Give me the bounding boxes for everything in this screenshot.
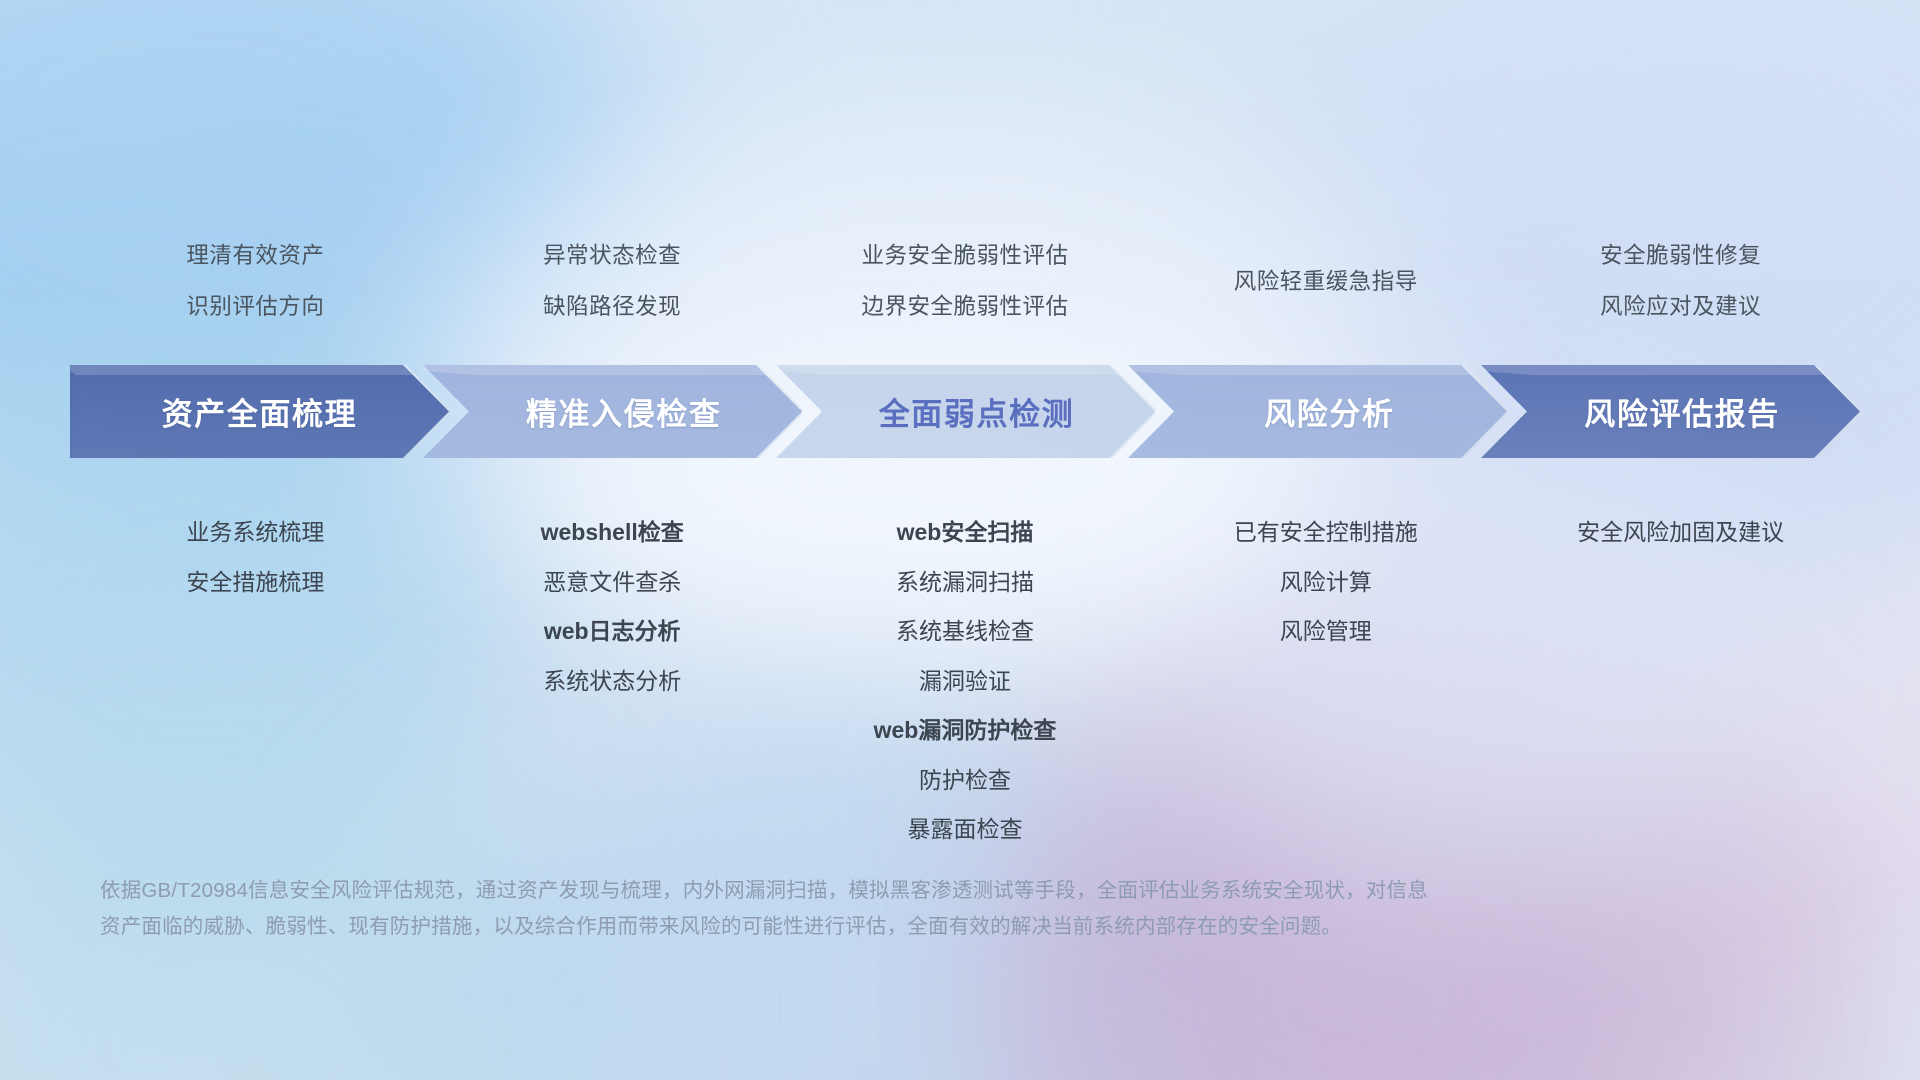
chevron-label-assessment-report: 风险评估报告 [1584,389,1780,434]
chevron-stage-risk-analysis[interactable]: 风险分析 [1128,365,1507,458]
top-point-intrusion-check: 异常状态检查 [412,245,812,268]
chevron-stage-assessment-report[interactable]: 风险评估报告 [1481,365,1860,458]
chevron-stage-intrusion-check[interactable]: 精准入侵检查 [423,365,802,458]
top-point-weakness-detection: 业务安全脆弱性评估 [765,245,1165,268]
bottom-point-item: 风险管理 [1096,607,1556,657]
process-chevron-banner: 资产全面梳理精准入侵检查全面弱点检测风险分析风险评估报告 [70,365,1860,458]
bottom-points-assessment-report: 安全风险加固及建议 [1451,508,1911,558]
chevron-sheen [70,365,413,375]
footer-line-1: 依据GB/T20984信息安全风险评估规范，通过资产发现与梳理，内外网漏洞扫描，… [100,873,1630,909]
bottom-point-item: 安全风险加固及建议 [1451,508,1911,558]
bottom-point-item: web漏洞防护检查 [735,706,1195,756]
top-point-asset-inventory: 理清有效资产 [55,245,455,268]
chevron-sheen [776,365,1119,375]
slide-canvas: 理清有效资产异常状态检查业务安全脆弱性评估安全脆弱性修复 识别评估方向缺陷路径发… [0,0,1920,1080]
chevron-label-weakness-detection: 全面弱点检测 [879,389,1075,434]
chevron-sheen [1481,365,1824,375]
top-point-risk-analysis: 风险轻重缓急指导 [1126,271,1526,294]
chevron-label-asset-inventory: 资产全面梳理 [162,389,358,434]
chevron-stage-weakness-detection[interactable]: 全面弱点检测 [776,365,1155,458]
top-point-weakness-detection: 边界安全脆弱性评估 [765,296,1165,319]
footer-description: 依据GB/T20984信息安全风险评估规范，通过资产发现与梳理，内外网漏洞扫描，… [100,873,1630,945]
top-point-asset-inventory: 识别评估方向 [55,296,455,319]
chevron-label-intrusion-check: 精准入侵检查 [526,389,722,434]
bottom-point-item: 防护检查 [735,756,1195,806]
chevron-sheen [1128,365,1471,375]
top-point-assessment-report: 风险应对及建议 [1481,296,1881,319]
top-point-assessment-report: 安全脆弱性修复 [1481,245,1881,268]
chevron-label-risk-analysis: 风险分析 [1264,389,1394,434]
bottom-point-item: 暴露面检查 [735,805,1195,855]
chevron-sheen [423,365,766,375]
bottom-point-item: 风险计算 [1096,558,1556,608]
top-point-intrusion-check: 缺陷路径发现 [412,296,812,319]
bottom-point-item: 漏洞验证 [735,657,1195,707]
chevron-stage-asset-inventory[interactable]: 资产全面梳理 [70,365,449,458]
footer-line-2: 资产面临的威胁、脆弱性、现有防护措施，以及综合作用而带来风险的可能性进行评估，全… [100,909,1630,945]
